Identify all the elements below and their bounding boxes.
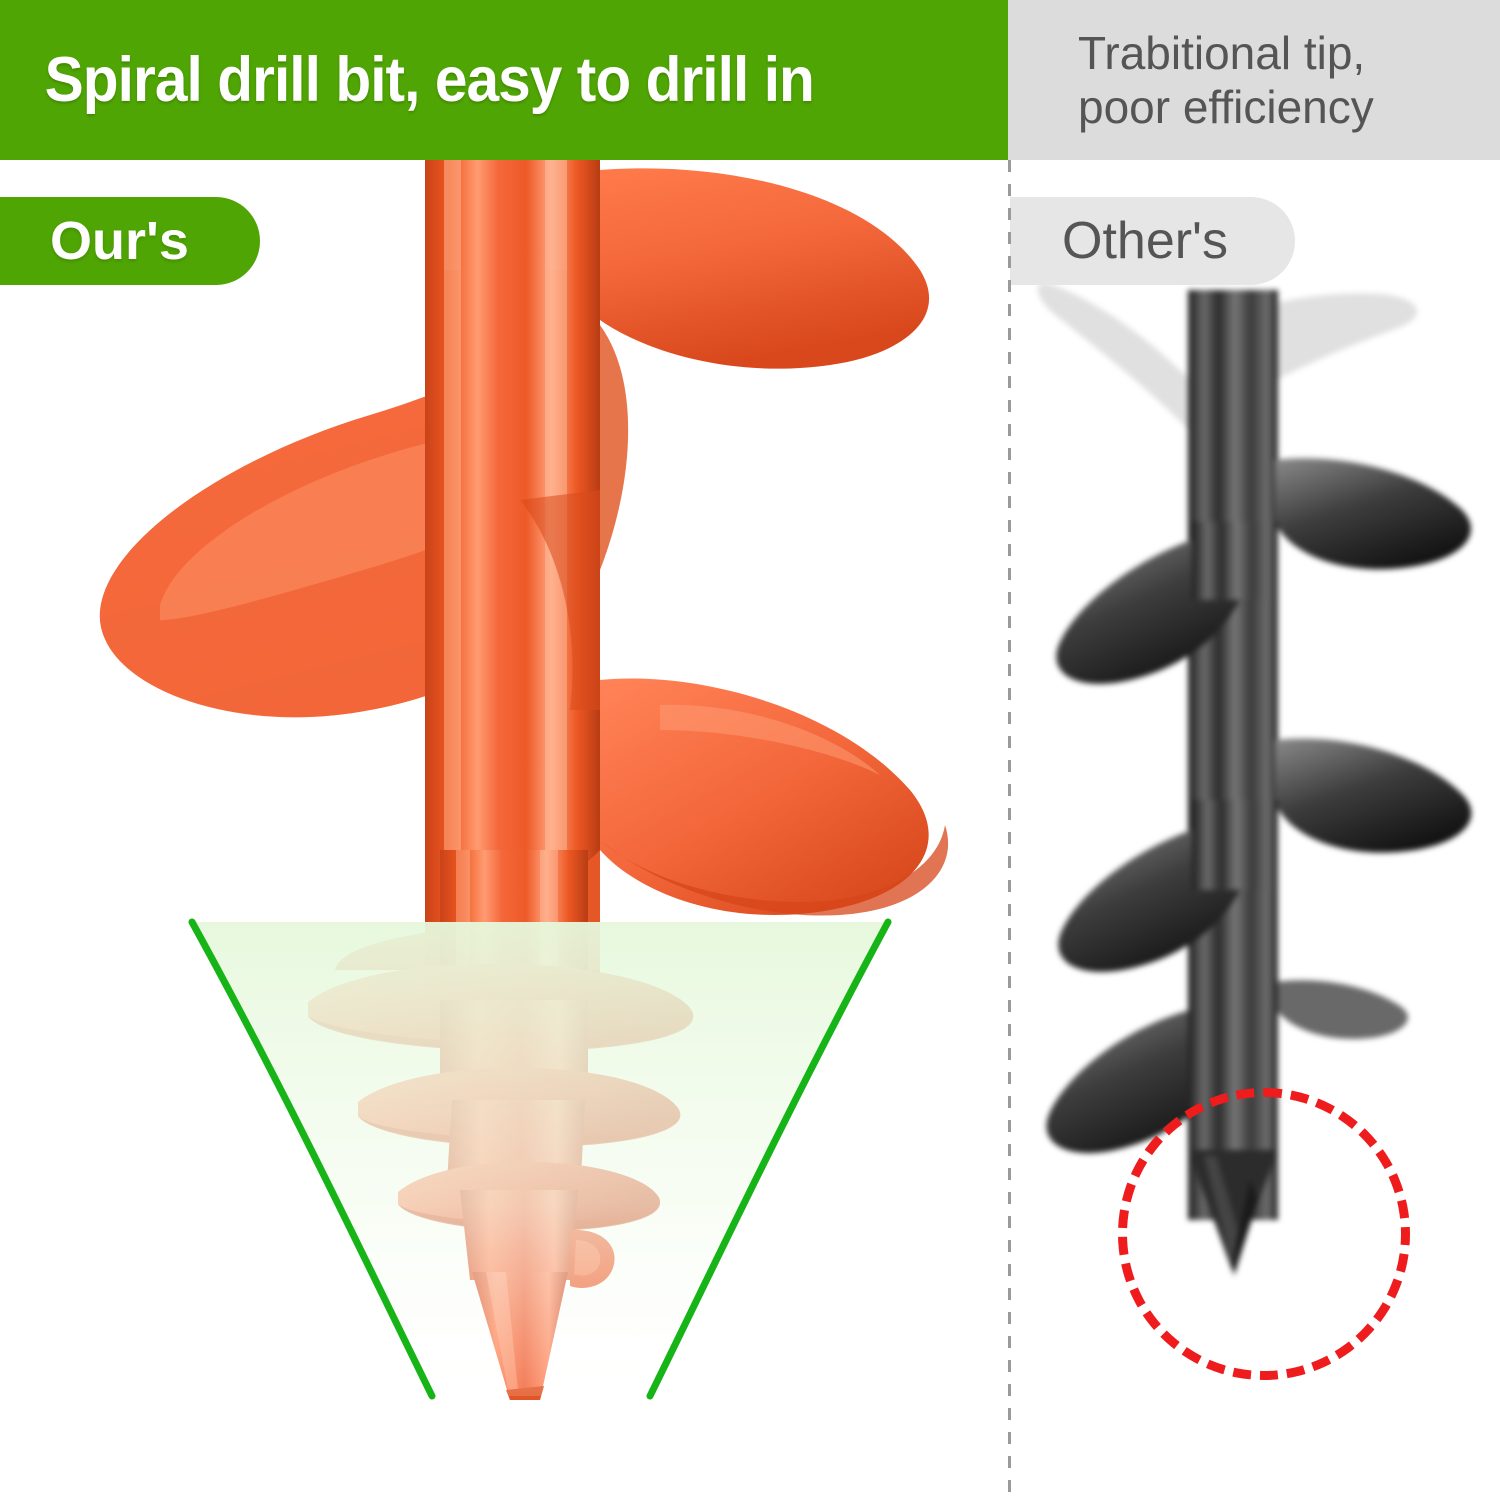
left-header-banner: Spiral drill bit, easy to drill in	[0, 0, 1008, 160]
others-badge-label: Other's	[1010, 211, 1228, 271]
vertical-dashed-divider	[1008, 160, 1011, 1500]
right-header-title: Trabitional tip, poor efficiency	[1008, 26, 1382, 135]
right-header-line-2: poor efficiency	[1078, 80, 1374, 134]
right-header-banner: Trabitional tip, poor efficiency	[1008, 0, 1500, 160]
left-header-title: Spiral drill bit, easy to drill in	[0, 44, 814, 116]
red-dashed-circle-highlight	[1118, 1088, 1410, 1380]
green-highlight-cone	[140, 910, 940, 1410]
others-badge: Other's	[1010, 197, 1295, 285]
comparison-graphic: Spiral drill bit, easy to drill in Trabi…	[0, 0, 1500, 1500]
right-header-line-1: Trabitional tip,	[1078, 26, 1374, 80]
ours-badge: Our's	[0, 197, 260, 285]
ours-badge-label: Our's	[0, 210, 189, 272]
